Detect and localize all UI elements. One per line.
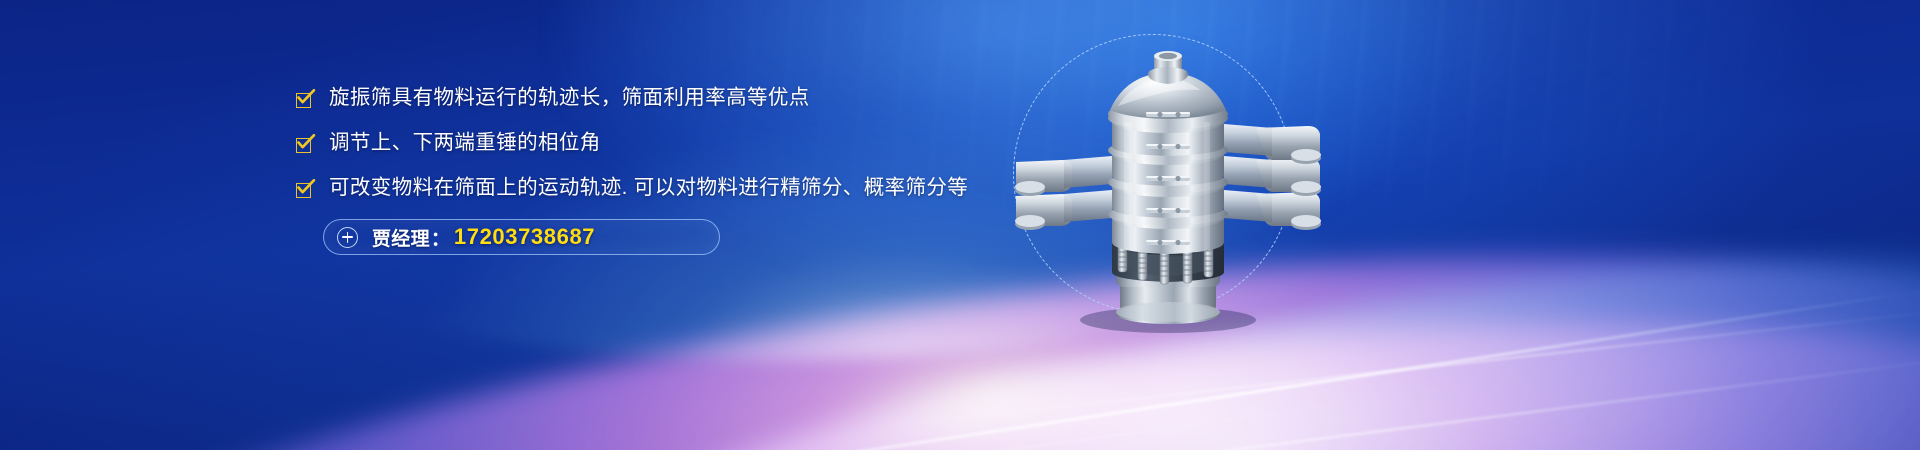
contact-separator: ：: [431, 224, 450, 251]
list-item-label: 旋振筛具有物料运行的轨迹长，筛面利用率高等优点: [329, 86, 810, 110]
list-item: 调节上、下两端重锤的相位角: [296, 131, 1056, 155]
rotary-vibrating-screen-image: [1008, 18, 1398, 338]
check-square-icon: [296, 92, 314, 110]
promo-banner: 旋振筛具有物料运行的轨迹长，筛面利用率高等优点 调节上、下两端重锤的相位角: [0, 0, 1920, 450]
plus-circle-icon: [337, 227, 358, 248]
list-item-label: 调节上、下两端重锤的相位角: [329, 131, 601, 155]
product-image-area: [1008, 18, 1398, 338]
list-item: 可改变物料在筛面上的运动轨迹. 可以对物料进行精筛分、概率筛分等: [296, 176, 1056, 200]
contact-name: 贾经理: [372, 224, 430, 251]
contact-phone-number: 17203738687: [454, 224, 595, 250]
banner-content: 旋振筛具有物料运行的轨迹长，筛面利用率高等优点 调节上、下两端重锤的相位角: [0, 0, 1920, 450]
feature-list: 旋振筛具有物料运行的轨迹长，筛面利用率高等优点 调节上、下两端重锤的相位角: [296, 86, 1056, 221]
check-square-icon: [296, 182, 314, 200]
contact-button[interactable]: 贾经理 ： 17203738687: [323, 219, 720, 255]
list-item-label: 可改变物料在筛面上的运动轨迹. 可以对物料进行精筛分、概率筛分等: [329, 176, 968, 200]
list-item: 旋振筛具有物料运行的轨迹长，筛面利用率高等优点: [296, 86, 1056, 110]
check-square-icon: [296, 137, 314, 155]
